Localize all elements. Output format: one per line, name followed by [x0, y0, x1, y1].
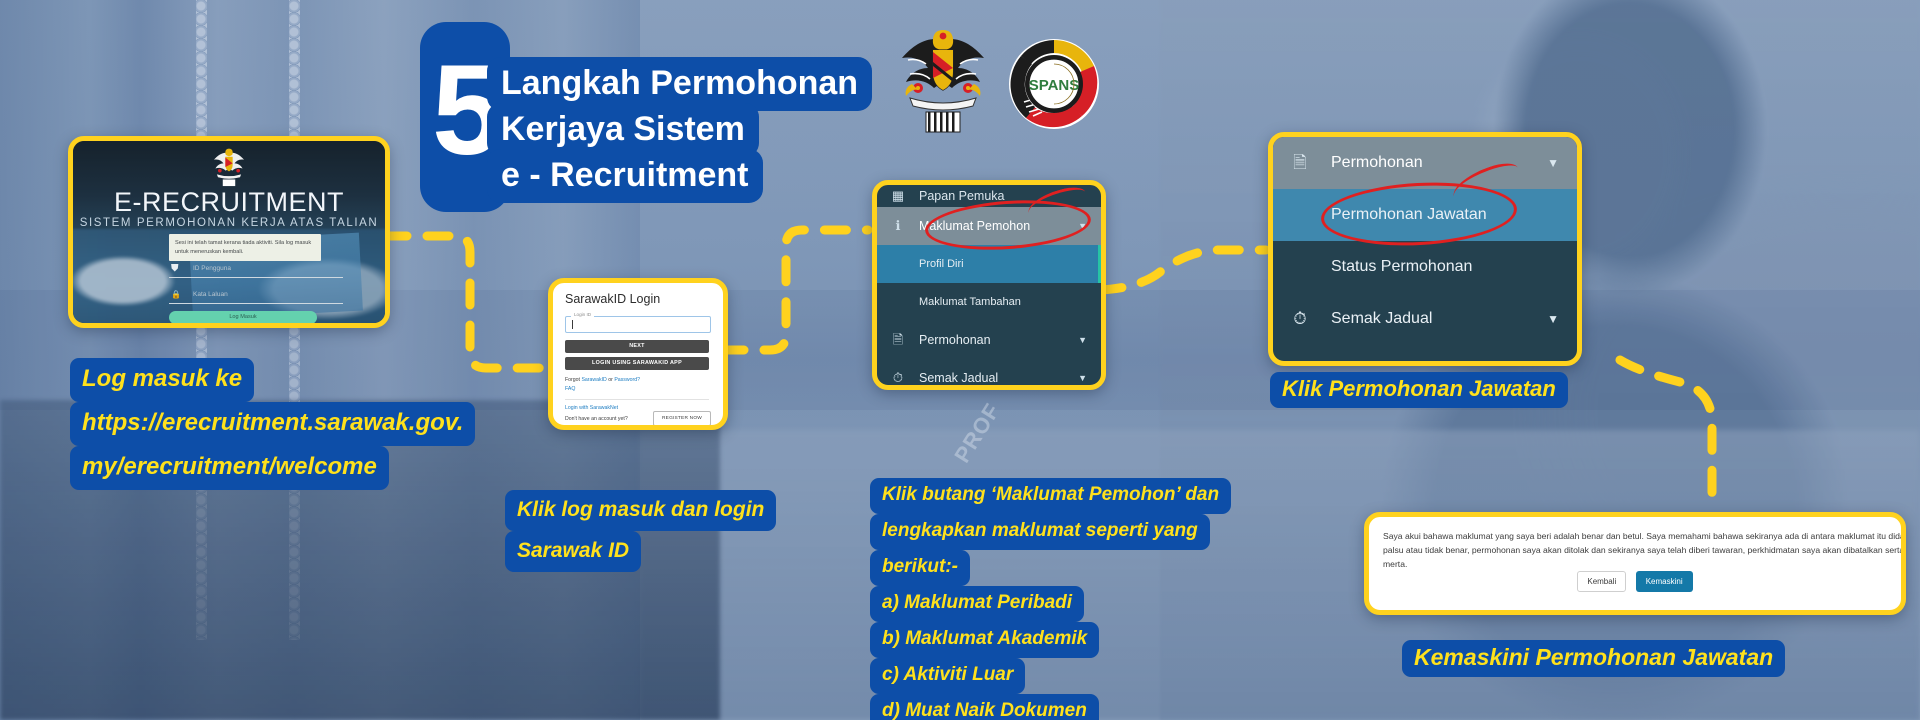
sidebar-item-label: Status Permohonan	[1331, 258, 1472, 275]
callout-line: a) Maklumat Peribadi	[870, 586, 1084, 622]
sidebar-item-maklumat-tambahan[interactable]: Maklumat Tambahan	[877, 283, 1101, 321]
clock-icon: ⏱	[889, 359, 907, 390]
header-title-line-3: e - Recruitment	[487, 149, 763, 203]
chevron-down-icon: ▼	[1547, 137, 1559, 189]
screenshot-sidebar-maklumat-pemohon[interactable]: ▦ Papan Pemuka ℹ Maklumat Pemohon ▼ Prof…	[872, 180, 1106, 390]
register-now-button[interactable]: REGISTER NOW	[653, 411, 711, 426]
forgot-sarawakid-link[interactable]: SarawakID	[581, 377, 606, 383]
callout-line: https://erecruitment.sarawak.gov.	[70, 402, 475, 446]
callout-line: Log masuk ke	[70, 358, 254, 402]
sarawak-crest-icon-small	[206, 145, 252, 189]
document-icon: 🗎	[889, 321, 907, 359]
declaration-actions: Kembali Kemaskini	[1369, 571, 1901, 592]
callout-line: d) Muat Naik Dokumen	[870, 694, 1099, 720]
clock-icon: ⏱	[1289, 293, 1311, 345]
infographic-canvas: PROF 5 Langkah Permohonan Kerjaya Sistem…	[0, 0, 1920, 720]
forgot-password-link[interactable]: Password?	[614, 377, 640, 383]
erecruitment-title: E-RECRUITMENT	[73, 187, 385, 218]
faq-link-text[interactable]: FAQ	[565, 386, 575, 392]
declaration-text: Saya akui bahawa maklumat yang saya beri…	[1383, 529, 1906, 572]
sidebar-item-semak-jadual[interactable]: ⏱ Semak Jadual ▼	[1273, 293, 1577, 345]
callout-step-1: Log masuk ke https://erecruitment.sarawa…	[70, 358, 475, 490]
kembali-button[interactable]: Kembali	[1577, 571, 1626, 592]
screenshot-sarawakid-login[interactable]: SarawakID Login Login ID NEXT LOGIN USIN…	[548, 278, 728, 430]
info-icon: ℹ	[889, 207, 907, 245]
no-account-text: Don't have an account yet?	[565, 416, 628, 422]
sidebar-item-label: Permohonan	[919, 333, 991, 347]
sarawaknet-login-link[interactable]: Login with SarawakNet	[565, 405, 618, 411]
sidebar-item-label: Profil Diri	[919, 258, 964, 270]
callout-line: c) Aktiviti Luar	[870, 658, 1025, 694]
divider	[565, 399, 709, 400]
faq-link[interactable]: FAQ	[565, 386, 575, 392]
callout-line: my/erecruitment/welcome	[70, 446, 389, 490]
sidebar-item-label: Permohonan	[1331, 154, 1423, 171]
callout-step-4: Klik Permohonan Jawatan	[1270, 372, 1568, 408]
login-button[interactable]: Log Masuk	[169, 311, 317, 324]
spans-logo-icon: SPANS	[1008, 38, 1100, 130]
screenshot-declaration-dialog[interactable]: Saya akui bahawa maklumat yang saya beri…	[1364, 512, 1906, 615]
chevron-down-icon: ▼	[1547, 293, 1559, 345]
sidebar-item-label: Maklumat Tambahan	[919, 296, 1021, 308]
user-id-input[interactable]: ID Pengguna	[169, 261, 343, 278]
callout-line: Klik Permohonan Jawatan	[1270, 372, 1568, 408]
text-caret	[572, 320, 573, 329]
forgot-credentials-line: Forgot SarawakID or Password?	[565, 377, 640, 383]
sidebar-item-permohonan[interactable]: 🗎 Permohonan ▼	[877, 321, 1101, 359]
callout-line: Klik log masuk dan login	[505, 490, 776, 531]
callout-step-5: Kemaskini Permohonan Jawatan	[1402, 640, 1785, 677]
sidebar-item-status-permohonan[interactable]: Status Permohonan	[1273, 241, 1577, 293]
callout-step-3: Klik butang ‘Maklumat Pemohon’ dan lengk…	[870, 478, 1231, 720]
spans-logo-text: SPANS	[1029, 77, 1080, 94]
sarawakid-title: SarawakID Login	[565, 292, 660, 306]
callout-line: Sarawak ID	[505, 531, 641, 572]
sidebar-item-profil-diri[interactable]: Profil Diri	[877, 245, 1101, 283]
sidebar-item-label: Papan Pemuka	[919, 189, 1004, 203]
callout-line: lengkapkan maklumat seperti yang	[870, 514, 1210, 550]
screenshot-erecruitment-login[interactable]: E-RECRUITMENT SISTEM PERMOHONAN KERJA AT…	[68, 136, 390, 328]
sidebar-item-label: Semak Jadual	[919, 371, 998, 385]
kemaskini-button[interactable]: Kemaskini	[1636, 571, 1693, 592]
dashboard-icon: ▦	[889, 185, 907, 207]
callout-line: Kemaskini Permohonan Jawatan	[1402, 640, 1785, 677]
chevron-down-icon: ▼	[1078, 321, 1087, 359]
sarawak-crest-icon	[888, 22, 998, 142]
sidebar-item-label: Semak Jadual	[1331, 310, 1432, 327]
login-using-app-button[interactable]: LOGIN USING SARAWAKID APP	[565, 357, 709, 370]
password-input[interactable]: Kata Laluan	[169, 287, 343, 304]
login-id-input[interactable]: Login ID	[565, 316, 711, 333]
next-button[interactable]: NEXT	[565, 340, 709, 353]
forgot-prefix: Forgot	[565, 377, 581, 383]
callout-line: b) Maklumat Akademik	[870, 622, 1099, 658]
erecruitment-subtitle: SISTEM PERMOHONAN KERJA ATAS TALIAN	[73, 217, 385, 229]
sidebar-item-semak-jadual[interactable]: ⏱ Semak Jadual ▼	[877, 359, 1101, 390]
screenshot-sidebar-permohonan[interactable]: 🗎 Permohonan ▼ Permohonan Jawatan Status…	[1268, 132, 1582, 366]
session-expired-message: Sesi ini telah tamat kerana tiada aktivi…	[169, 234, 321, 261]
callout-line: berikut:-	[870, 550, 970, 586]
login-id-label: Login ID	[571, 312, 594, 317]
sidebar-item-permohonan[interactable]: 🗎 Permohonan ▼	[1273, 137, 1577, 189]
callout-step-2: Klik log masuk dan login Sarawak ID	[505, 490, 776, 572]
chevron-down-icon: ▼	[1078, 359, 1087, 390]
callout-line: Klik butang ‘Maklumat Pemohon’ dan	[870, 478, 1231, 514]
document-icon: 🗎	[1289, 137, 1311, 189]
